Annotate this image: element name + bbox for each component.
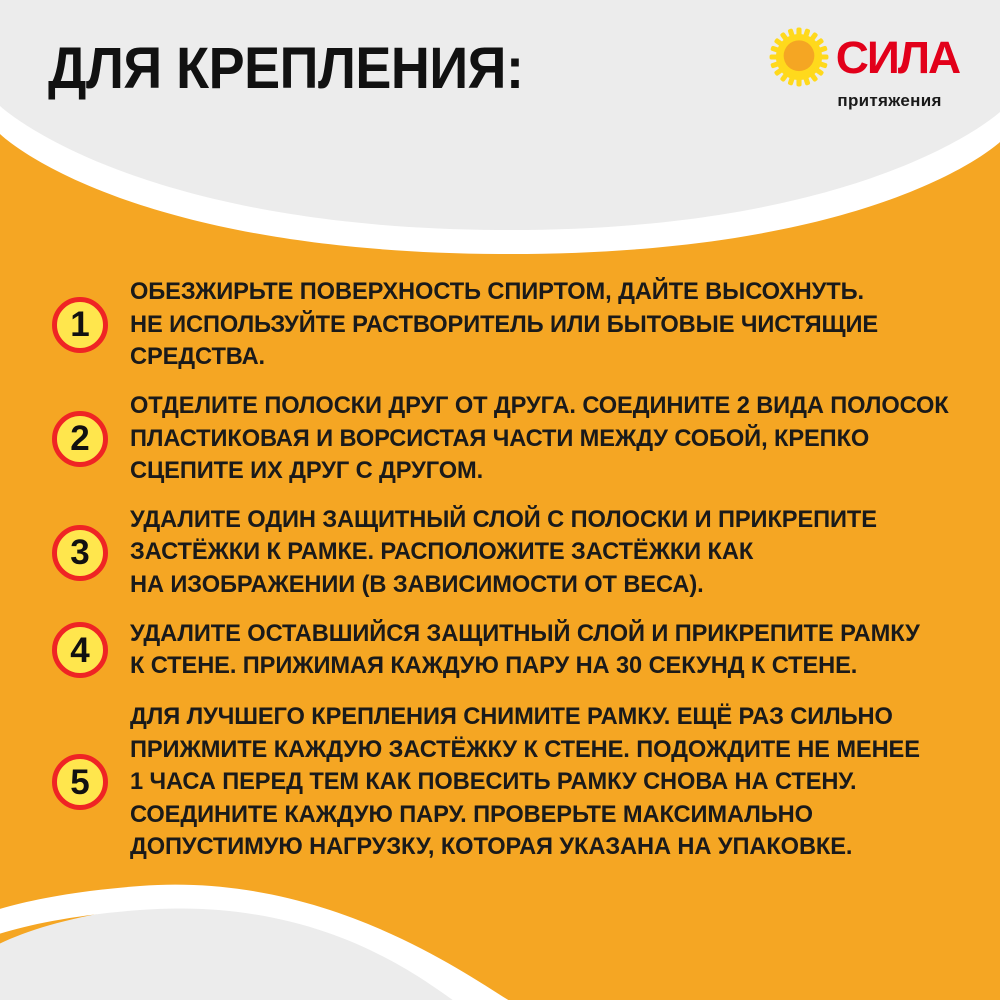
- step-item: 5 ДЛЯ ЛУЧШЕГО КРЕПЛЕНИЯ СНИМИТЕ РАМКУ. Е…: [0, 701, 1000, 864]
- step-number-badge: 3: [52, 525, 108, 581]
- logo-brand-text: СИЛА: [836, 35, 959, 80]
- step-text: ОБЕЗЖИРЬТЕ ПОВЕРХНОСТЬ СПИРТОМ, ДАЙТЕ ВЫ…: [130, 276, 878, 374]
- page-title: ДЛЯ КРЕПЛЕНИЯ:: [48, 40, 523, 98]
- steps-list: 1 ОБЕЗЖИРЬТЕ ПОВЕРХНОСТЬ СПИРТОМ, ДАЙТЕ …: [0, 276, 1000, 864]
- step-item: 2 ОТДЕЛИТЕ ПОЛОСКИ ДРУГ ОТ ДРУГА. СОЕДИН…: [0, 390, 1000, 488]
- step-text: ОТДЕЛИТЕ ПОЛОСКИ ДРУГ ОТ ДРУГА. СОЕДИНИТ…: [130, 390, 949, 488]
- step-text: УДАЛИТЕ ОДИН ЗАЩИТНЫЙ СЛОЙ С ПОЛОСКИ И П…: [130, 504, 877, 602]
- step-item: 4 УДАЛИТЕ ОСТАВШИЙСЯ ЗАЩИТНЫЙ СЛОЙ И ПРИ…: [0, 618, 1000, 683]
- poster-canvas: ДЛЯ КРЕПЛЕНИЯ:: [0, 0, 1000, 1000]
- step-text: УДАЛИТЕ ОСТАВШИЙСЯ ЗАЩИТНЫЙ СЛОЙ И ПРИКР…: [130, 618, 920, 683]
- logo-row: СИЛА: [767, 25, 958, 89]
- step-number-badge: 5: [52, 754, 108, 810]
- brand-logo: СИЛА притяжения: [767, 25, 958, 111]
- step-number-badge: 4: [52, 622, 108, 678]
- step-item: 1 ОБЕЗЖИРЬТЕ ПОВЕРХНОСТЬ СПИРТОМ, ДАЙТЕ …: [0, 276, 1000, 374]
- sun-icon: [767, 25, 831, 89]
- step-item: 3 УДАЛИТЕ ОДИН ЗАЩИТНЫЙ СЛОЙ С ПОЛОСКИ И…: [0, 504, 1000, 602]
- poster-header: ДЛЯ КРЕПЛЕНИЯ:: [0, 0, 1000, 130]
- step-number-badge: 2: [52, 411, 108, 467]
- step-text: ДЛЯ ЛУЧШЕГО КРЕПЛЕНИЯ СНИМИТЕ РАМКУ. ЕЩЁ…: [130, 701, 920, 864]
- logo-tagline: притяжения: [837, 91, 941, 111]
- step-number-badge: 1: [52, 297, 108, 353]
